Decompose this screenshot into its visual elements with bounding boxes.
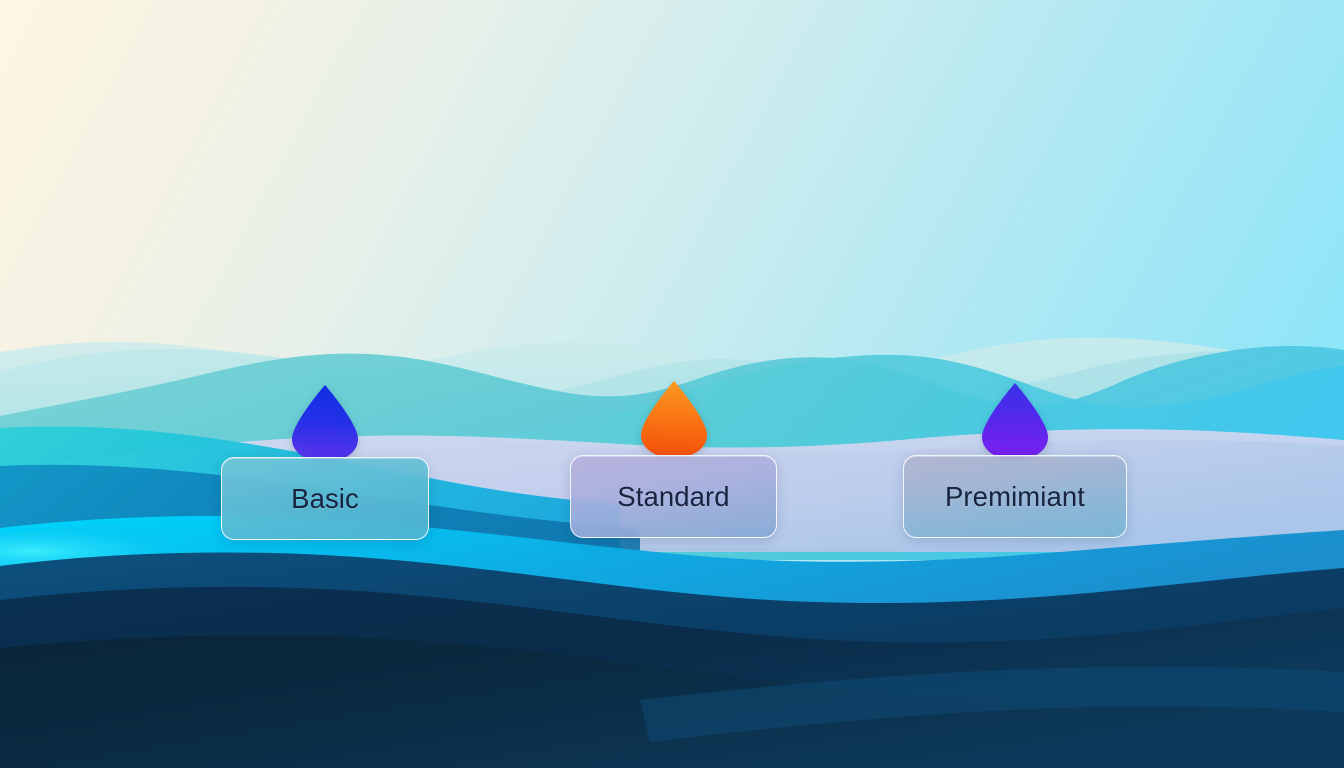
teardrop-icon [635,379,713,459]
plan-option-premium[interactable]: Premimiant [903,455,1127,538]
teardrop-icon [976,381,1054,461]
plan-card-basic[interactable]: Basic [221,457,429,540]
plan-label-basic: Basic [291,483,359,515]
landscape-scene: Basic Standard [0,0,1344,768]
plan-card-standard[interactable]: Standard [570,455,777,538]
plan-label-standard: Standard [617,481,729,513]
plan-option-basic[interactable]: Basic [221,457,429,540]
plan-label-premium: Premimiant [945,481,1085,513]
teardrop-icon [286,383,364,463]
plan-card-premium[interactable]: Premimiant [903,455,1127,538]
plan-option-standard[interactable]: Standard [570,455,777,538]
